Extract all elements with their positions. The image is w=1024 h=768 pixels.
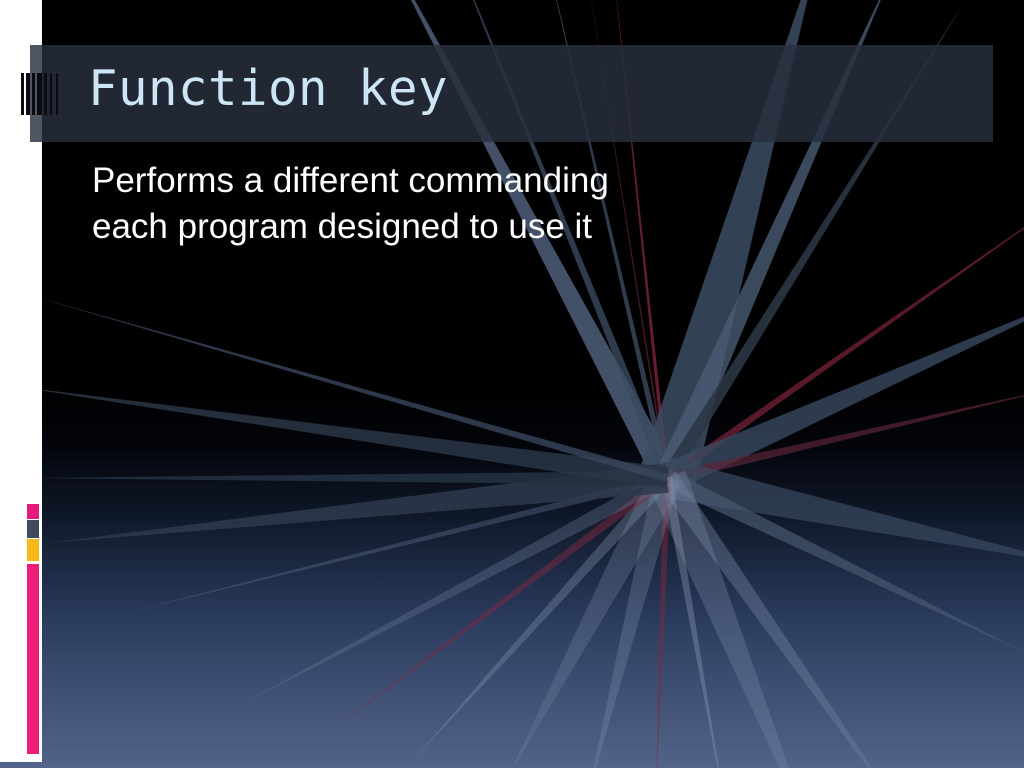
accent-chip-pink [27, 504, 39, 519]
accent-chip-slate [27, 520, 39, 538]
accent-chip-yellow [27, 539, 39, 561]
slide-body-text: Performs a different commanding each pro… [92, 158, 732, 250]
barcode-icon [21, 73, 61, 115]
barcode-bar [58, 73, 61, 115]
body-line-1: Performs a different commanding [92, 158, 732, 204]
accent-vertical-bar [27, 564, 39, 754]
page-title: Function key [88, 62, 448, 116]
accent-chip-stack [27, 504, 39, 754]
body-line-2: each program designed to use it [92, 204, 732, 250]
presentation-slide: Function key Performs a different comman… [0, 0, 1024, 768]
